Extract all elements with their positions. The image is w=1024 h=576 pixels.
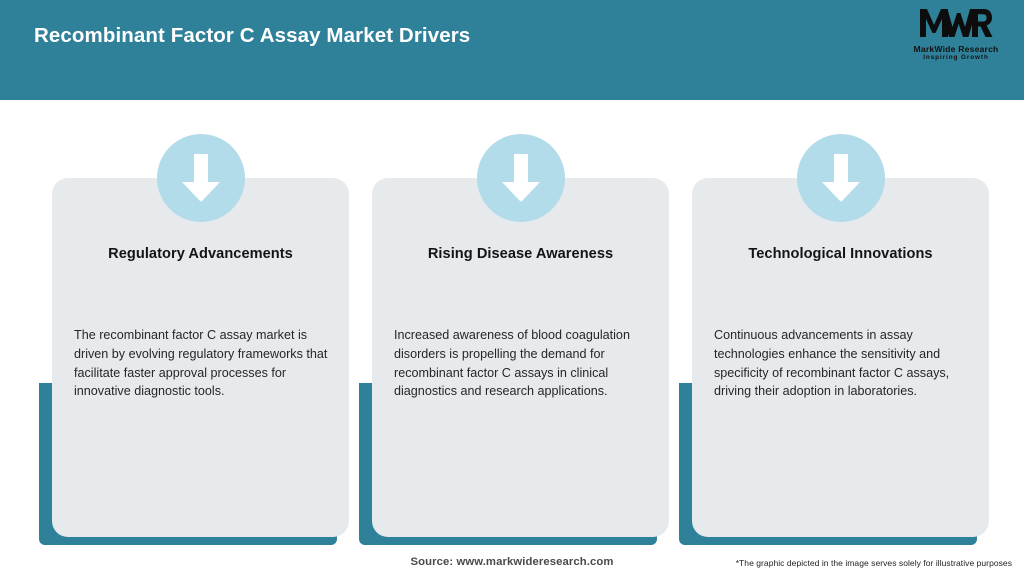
brand-logo: MarkWide Research Inspiring Growth xyxy=(902,8,1010,62)
card-body-text: The recombinant factor C assay market is… xyxy=(74,326,336,401)
arrow-down-icon xyxy=(797,134,885,222)
card-title: Regulatory Advancements xyxy=(52,246,349,262)
arrow-down-icon xyxy=(157,134,245,222)
driver-cards-container: Regulatory Advancements The recombinant … xyxy=(0,100,1024,550)
driver-card-2: Rising Disease Awareness Increased aware… xyxy=(359,100,669,550)
card-surface: Rising Disease Awareness Increased aware… xyxy=(372,178,669,537)
page-title: Recombinant Factor C Assay Market Driver… xyxy=(34,24,470,48)
mwr-monogram-icon xyxy=(902,8,1010,43)
card-surface: Regulatory Advancements The recombinant … xyxy=(52,178,349,537)
card-body-text: Increased awareness of blood coagulation… xyxy=(394,326,656,401)
disclaimer-note: *The graphic depicted in the image serve… xyxy=(736,558,1012,568)
arrow-down-icon xyxy=(477,134,565,222)
card-surface: Technological Innovations Continuous adv… xyxy=(692,178,989,537)
logo-tagline: Inspiring Growth xyxy=(902,54,1010,62)
card-title: Technological Innovations xyxy=(692,246,989,262)
driver-card-3: Technological Innovations Continuous adv… xyxy=(679,100,989,550)
driver-card-1: Regulatory Advancements The recombinant … xyxy=(39,100,349,550)
card-body-text: Continuous advancements in assay technol… xyxy=(714,326,976,401)
header-banner: Recombinant Factor C Assay Market Driver… xyxy=(0,0,1024,100)
logo-company-name: MarkWide Research xyxy=(902,44,1010,54)
card-title: Rising Disease Awareness xyxy=(372,246,669,262)
